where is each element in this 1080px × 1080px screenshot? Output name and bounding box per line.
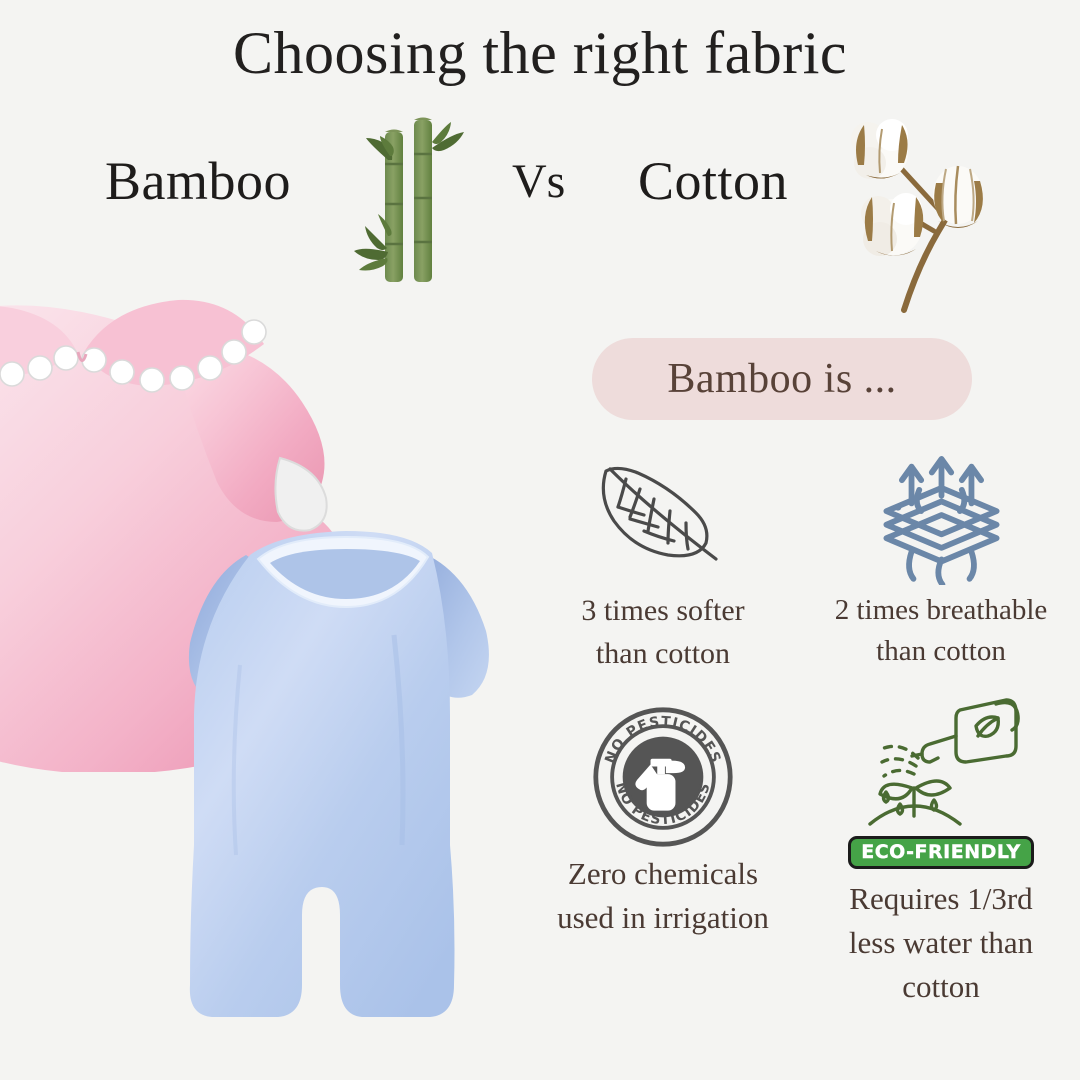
benefits-grid: 3 times softer than cotton — [524, 440, 1080, 1060]
eco-friendly-badge: ECO-FRIENDLY — [848, 836, 1034, 869]
cotton-branch-illustration — [830, 105, 1050, 320]
bamboo-is-banner: Bamboo is ... — [592, 338, 972, 420]
feather-icon — [524, 440, 802, 590]
benefit-text-breathability: 2 times breathable than cotton — [802, 590, 1080, 672]
benefit-text-water-usage: Requires 1/3rd less water than cotton — [802, 877, 1080, 1009]
blue-baby-romper-illustration — [150, 515, 540, 1075]
label-vs: Vs — [512, 154, 565, 209]
infographic-canvas: Choosing the right fabric Bamboo Vs Cott… — [0, 0, 1080, 1080]
bamboo-stalks-illustration — [352, 112, 482, 282]
watering-can-sprout-icon — [802, 692, 1080, 842]
benefit-item-no-pesticides: NO PESTICIDES NO PESTICIDES Zero ch — [524, 702, 802, 940]
label-bamboo: Bamboo — [105, 150, 291, 212]
benefit-item-softness: 3 times softer than cotton — [524, 440, 802, 675]
benefit-item-breathability: 2 times breathable than cotton — [802, 440, 1080, 672]
benefit-text-softness: 3 times softer than cotton — [524, 590, 802, 675]
no-pesticides-badge-icon: NO PESTICIDES NO PESTICIDES — [524, 702, 802, 852]
breathable-fabric-layers-icon — [802, 440, 1080, 590]
benefit-text-no-pesticides: Zero chemicals used in irrigation — [524, 852, 802, 940]
page-title: Choosing the right fabric — [0, 22, 1080, 85]
bamboo-is-banner-label: Bamboo is ... — [667, 355, 896, 403]
benefit-item-water-usage: ECO-FRIENDLY Requires 1/3rd less water t… — [802, 692, 1080, 1009]
label-cotton: Cotton — [638, 150, 788, 212]
eco-friendly-badge-wrap: ECO-FRIENDLY — [802, 836, 1080, 869]
